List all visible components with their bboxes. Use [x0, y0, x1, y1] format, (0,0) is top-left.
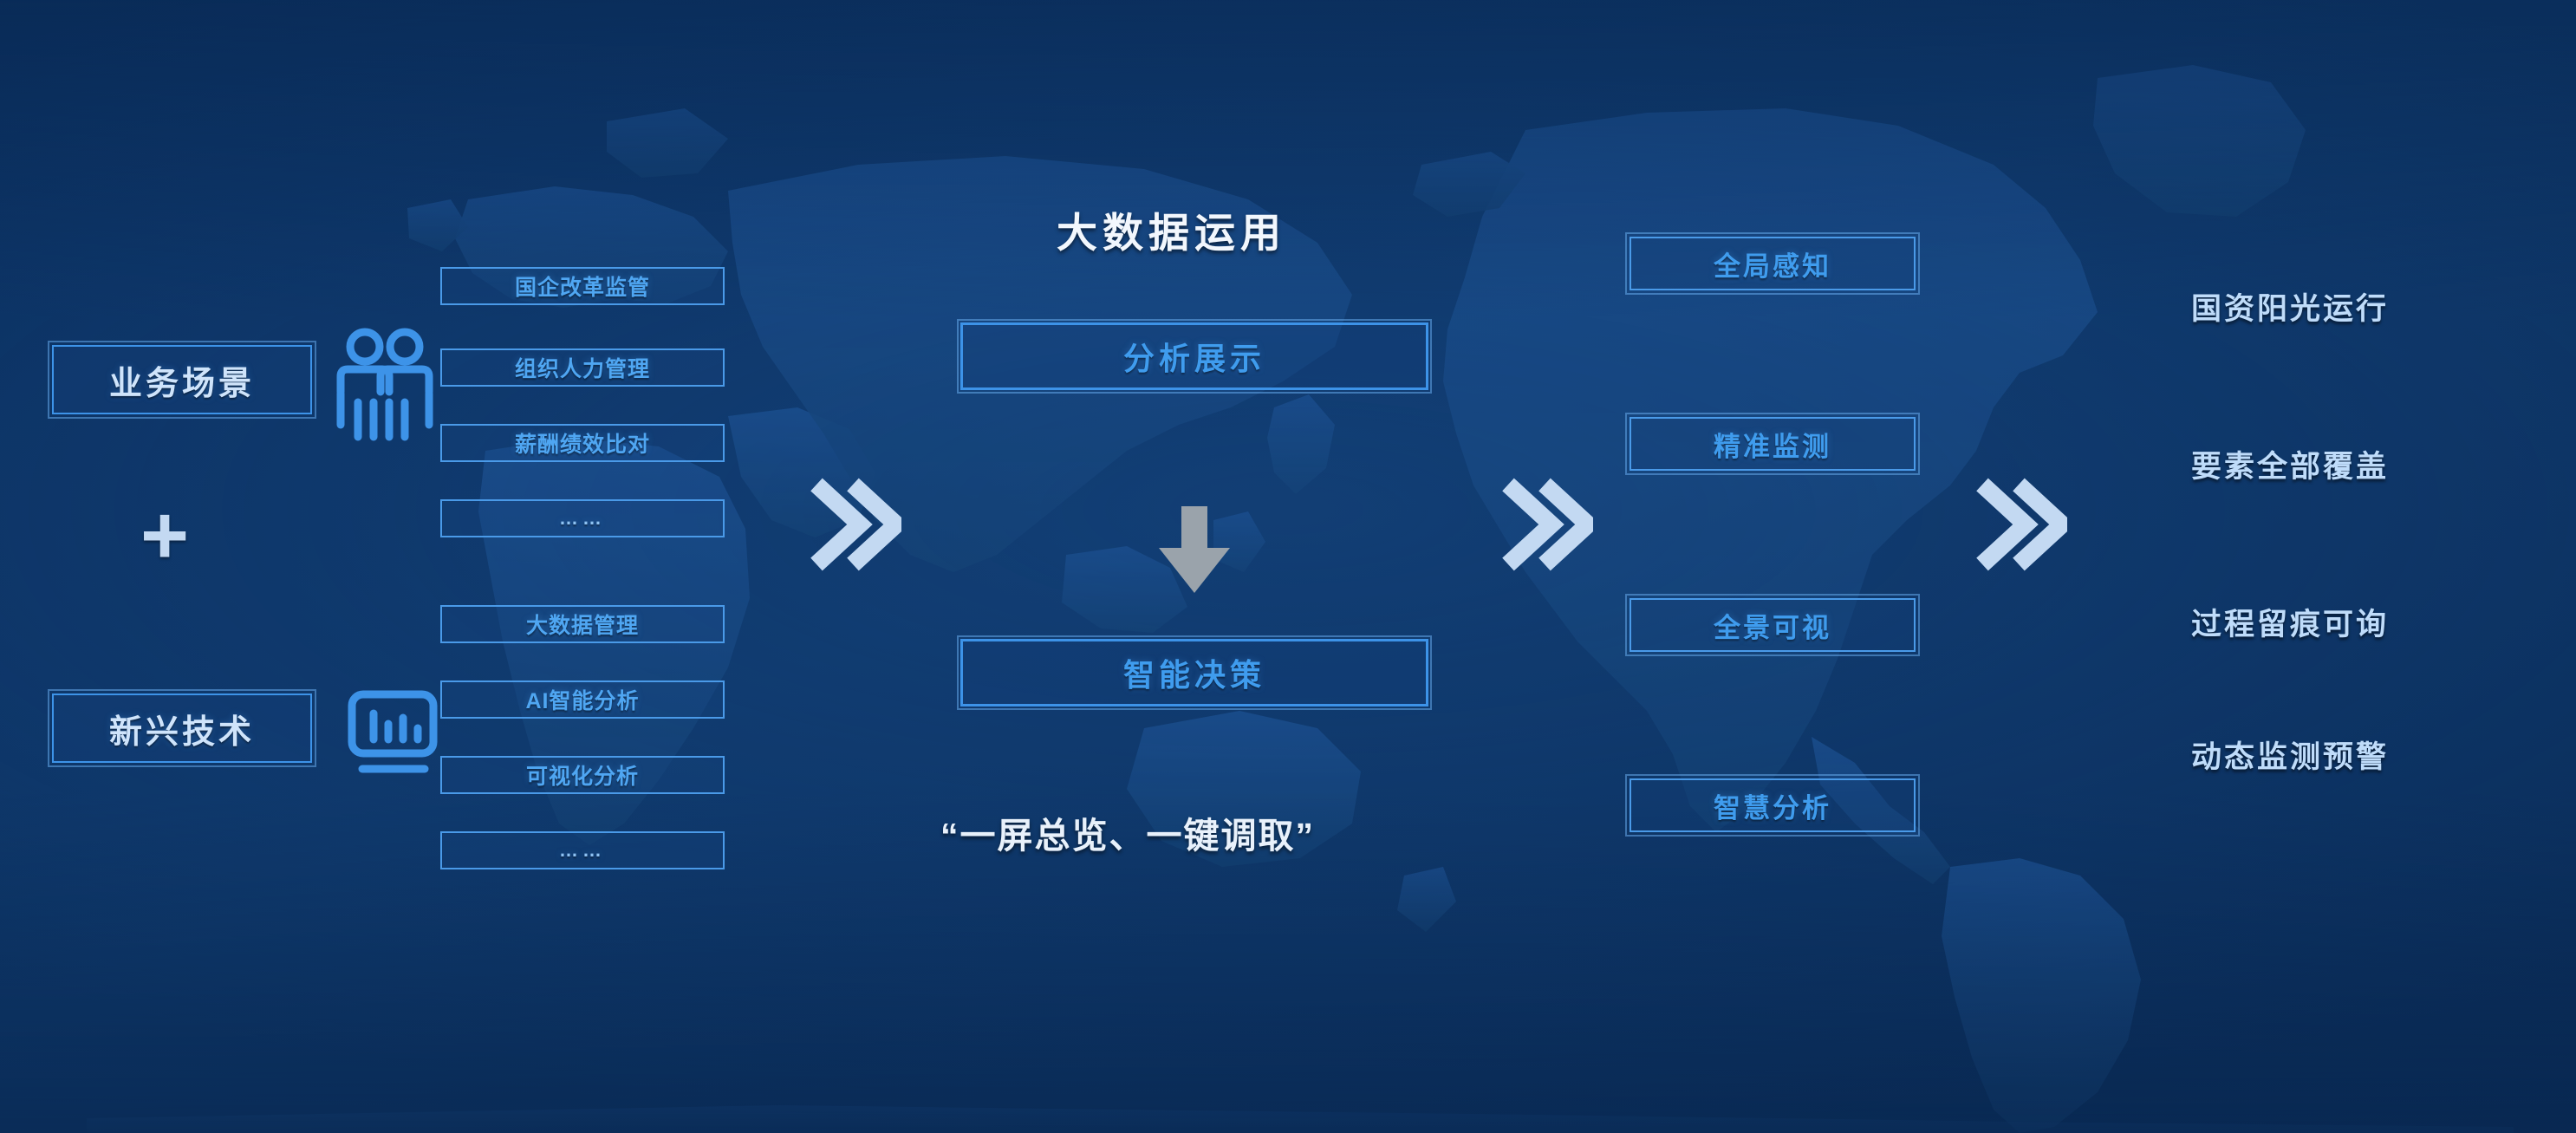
outcome-text-full-coverage: 要素全部覆盖: [2191, 442, 2389, 486]
plus-symbol: +: [140, 494, 189, 577]
chip-label: 国企改革监管: [515, 270, 650, 302]
capability-box-global-awareness[interactable]: 全局感知: [1630, 237, 1916, 290]
chip-pay-performance-comparison[interactable]: 薪酬绩效比对: [440, 424, 725, 462]
center-box-label: 分析展示: [1123, 334, 1265, 379]
chip-visualization-analysis[interactable]: 可视化分析: [440, 756, 725, 794]
capability-label: 全景可视: [1714, 606, 1831, 645]
chip-label: 薪酬绩效比对: [515, 427, 650, 459]
center-box-label: 智能决策: [1123, 650, 1265, 695]
capability-box-panoramic-visibility[interactable]: 全景可视: [1630, 598, 1916, 652]
chip-label: 大数据管理: [526, 609, 639, 640]
chip-soe-reform-supervision[interactable]: 国企改革监管: [440, 267, 725, 305]
page-title: 大数据运用: [1057, 199, 1286, 259]
down-arrow-icon: [1155, 503, 1233, 598]
chip-label: ……: [559, 839, 606, 862]
outcome-text-dynamic-alert: 动态监测预警: [2191, 733, 2389, 777]
capability-label: 精准监测: [1714, 425, 1831, 464]
center-quote: “一屏总览、一键调取”: [940, 806, 1315, 858]
outcome-text-traceable-process: 过程留痕可询: [2191, 600, 2389, 644]
capability-box-smart-analysis[interactable]: 智慧分析: [1630, 778, 1916, 832]
capability-box-precise-monitoring[interactable]: 精准监测: [1630, 417, 1916, 471]
chip-label: AI智能分析: [525, 684, 639, 715]
chip-label: 可视化分析: [526, 759, 639, 791]
input-group-label-emerging-tech[interactable]: 新兴技术: [52, 693, 312, 763]
chip-more-business[interactable]: ……: [440, 499, 725, 537]
double-chevron-right-icon-3: [1972, 472, 2067, 576]
people-group-icon: [332, 322, 436, 453]
chip-org-hr-management[interactable]: 组织人力管理: [440, 348, 725, 387]
input-group-label-business-scenario[interactable]: 业务场景: [52, 345, 312, 414]
center-box-analysis-display[interactable]: 分析展示: [960, 322, 1428, 390]
bar-chart-monitor-icon: [345, 689, 440, 780]
double-chevron-right-icon-1: [806, 472, 901, 576]
chip-label: 组织人力管理: [515, 352, 650, 383]
chip-big-data-management[interactable]: 大数据管理: [440, 605, 725, 643]
input-group-label-text: 业务场景: [109, 356, 255, 404]
outcome-text-sunlight-operation: 国资阳光运行: [2191, 284, 2389, 329]
input-group-label-text: 新兴技术: [109, 705, 255, 752]
chip-label: ……: [559, 507, 606, 530]
center-box-intelligent-decision[interactable]: 智能决策: [960, 639, 1428, 706]
chip-ai-analysis[interactable]: AI智能分析: [440, 680, 725, 719]
double-chevron-right-icon-2: [1498, 472, 1593, 576]
capability-label: 智慧分析: [1714, 786, 1831, 825]
capability-label: 全局感知: [1714, 244, 1831, 283]
chip-more-tech[interactable]: ……: [440, 831, 725, 869]
